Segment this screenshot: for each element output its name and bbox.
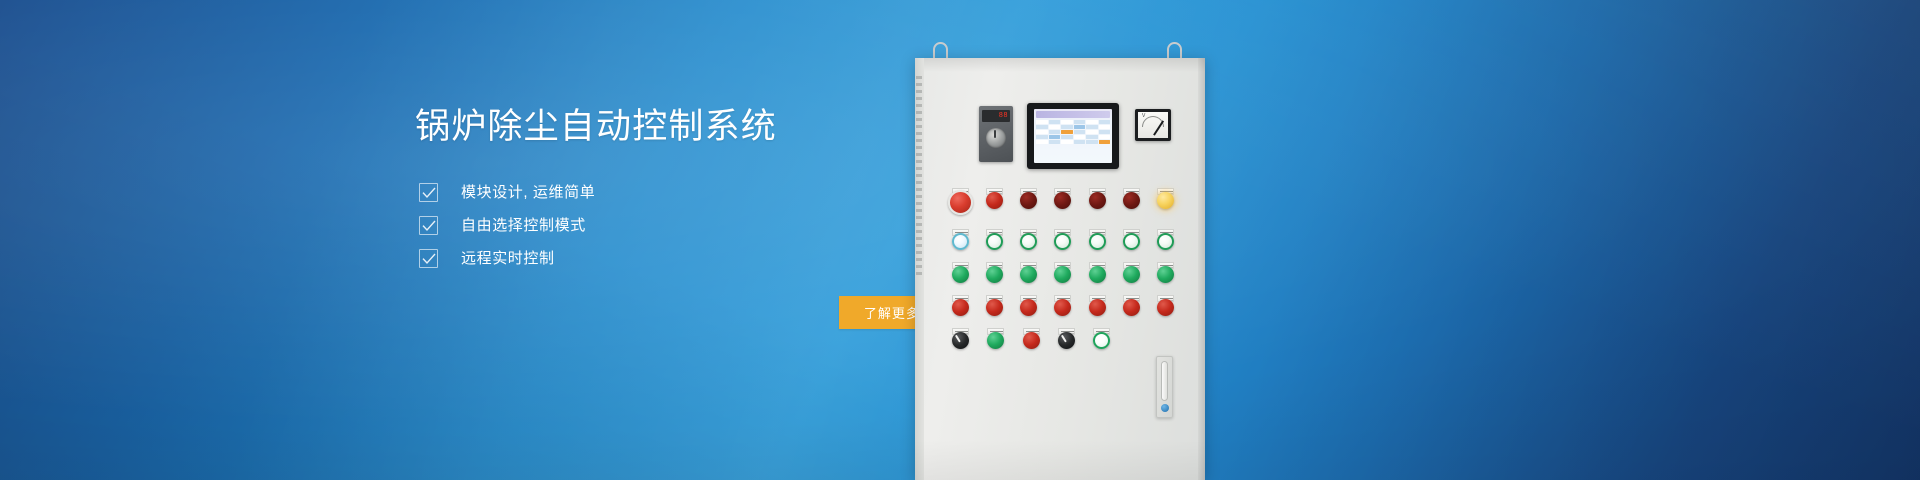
lamp-cell[interactable]	[949, 295, 972, 316]
motor-speed-controller: 88	[979, 106, 1013, 162]
lamp-cell[interactable]	[949, 328, 972, 349]
cabinet-bottom-shadow	[915, 440, 1205, 480]
black-selector-switch[interactable]	[1058, 332, 1075, 349]
lamp-cell[interactable]	[984, 328, 1007, 349]
lamp-cell[interactable]	[1086, 229, 1109, 250]
list-item: 自由选择控制模式	[419, 209, 839, 242]
lamp-cell[interactable]	[983, 262, 1006, 283]
dark-red-lamp[interactable]	[1020, 192, 1037, 209]
checkbox-checked-icon	[419, 249, 438, 268]
white-green-lamp[interactable]	[1123, 233, 1140, 250]
cabinet-body: 88	[915, 58, 1205, 480]
hero-banner: 锅炉除尘自动控制系统 模块设计, 运维简单 自由选择控制模式	[0, 0, 1920, 480]
door-handle-with-lock[interactable]	[1156, 356, 1173, 418]
handle-bar	[1161, 361, 1168, 401]
lamp-cell[interactable]	[949, 188, 972, 215]
white-green-lamp[interactable]	[1089, 233, 1106, 250]
green-lamp[interactable]	[986, 266, 1003, 283]
lamp-cell[interactable]	[1154, 262, 1177, 283]
lamp-cell[interactable]	[983, 295, 1006, 316]
voltmeter-face: V	[1138, 112, 1168, 138]
green-lamp[interactable]	[952, 266, 969, 283]
cabinet-top-shadow	[915, 58, 1205, 72]
controller-knob-icon	[986, 128, 1006, 148]
list-item-label: 远程实时控制	[461, 249, 555, 268]
hmi-screen-surface	[1034, 109, 1112, 163]
dark-red-lamp[interactable]	[1089, 192, 1106, 209]
list-item: 模块设计, 运维简单	[419, 176, 839, 209]
list-item-label: 模块设计, 运维简单	[461, 183, 595, 202]
lamp-cell[interactable]	[1090, 328, 1113, 349]
learn-more-label: 了解更多	[864, 303, 920, 322]
lamp-cell[interactable]	[1017, 295, 1040, 316]
white-green-lamp[interactable]	[986, 233, 1003, 250]
red-lamp[interactable]	[986, 299, 1003, 316]
lamp-cell[interactable]	[949, 229, 972, 250]
lamp-cell[interactable]	[1154, 188, 1177, 215]
cabinet-right-edge	[1198, 58, 1205, 480]
lamp-cell[interactable]	[1120, 229, 1143, 250]
emergency-stop-button[interactable]	[948, 190, 973, 215]
white-green-lamp[interactable]	[1157, 233, 1174, 250]
selector-switch-row	[949, 328, 1113, 349]
list-item-label: 自由选择控制模式	[461, 216, 586, 235]
instrument-row: 88	[937, 103, 1187, 171]
red-lamp[interactable]	[1054, 299, 1071, 316]
red-lamp[interactable]	[1157, 299, 1174, 316]
dark-red-lamp[interactable]	[1054, 192, 1071, 209]
lamp-cell[interactable]	[1154, 295, 1177, 316]
checkbox-checked-icon	[419, 183, 438, 202]
lamp-cell[interactable]	[1154, 229, 1177, 250]
green-lamp[interactable]	[1054, 266, 1071, 283]
lamp-cell[interactable]	[1120, 295, 1143, 316]
feature-list: 模块设计, 运维简单 自由选择控制模式 远程实时控制	[419, 176, 839, 275]
controller-digits: 88	[999, 112, 1008, 120]
green-indicator-row	[949, 262, 1177, 283]
lamp-cell[interactable]	[1020, 328, 1043, 349]
checkbox-checked-icon	[419, 216, 438, 235]
controller-readout: 88	[982, 110, 1010, 122]
lamp-cell[interactable]	[949, 262, 972, 283]
dark-red-lamp[interactable]	[1123, 192, 1140, 209]
lamp-cell[interactable]	[1051, 262, 1074, 283]
red-lamp[interactable]	[1123, 299, 1140, 316]
green-ring-lamp[interactable]	[1093, 332, 1110, 349]
green-lamp[interactable]	[1020, 266, 1037, 283]
cabinet-hinge-strip	[915, 58, 924, 480]
lamp-cell[interactable]	[1120, 188, 1143, 215]
lamp-cell[interactable]	[1086, 262, 1109, 283]
green-lamp[interactable]	[1123, 266, 1140, 283]
analog-voltmeter: V	[1135, 109, 1171, 141]
lamp-cell[interactable]	[1051, 295, 1074, 316]
white-indicator-row	[949, 229, 1177, 250]
lamp-cell[interactable]	[983, 229, 1006, 250]
control-cabinet-photo: 88	[915, 40, 1205, 480]
green-lamp[interactable]	[1089, 266, 1106, 283]
lock-icon[interactable]	[1161, 404, 1169, 412]
lamp-cell[interactable]	[1055, 328, 1078, 349]
red-lamp[interactable]	[952, 299, 969, 316]
red-lamp[interactable]	[1020, 299, 1037, 316]
white-green-lamp[interactable]	[1054, 233, 1071, 250]
lamp-cell[interactable]	[1120, 262, 1143, 283]
hero-content: 锅炉除尘自动控制系统 模块设计, 运维简单 自由选择控制模式	[415, 0, 885, 480]
lamp-cell[interactable]	[1051, 188, 1074, 215]
lamp-cell[interactable]	[1017, 229, 1040, 250]
lamp-cell[interactable]	[1051, 229, 1074, 250]
lamp-cell[interactable]	[1017, 188, 1040, 215]
lamp-cell[interactable]	[1017, 262, 1040, 283]
indicator-lamp-grid	[949, 188, 1177, 361]
black-selector-switch[interactable]	[952, 332, 969, 349]
green-lamp[interactable]	[1157, 266, 1174, 283]
red-button[interactable]	[986, 192, 1003, 209]
green-lamp[interactable]	[987, 332, 1004, 349]
amber-lamp[interactable]	[1157, 192, 1174, 209]
lamp-cell[interactable]	[983, 188, 1006, 215]
red-lamp[interactable]	[1023, 332, 1040, 349]
red-lamp[interactable]	[1089, 299, 1106, 316]
hmi-touch-screen	[1027, 103, 1119, 169]
lamp-cell[interactable]	[1086, 188, 1109, 215]
white-blue-lamp[interactable]	[952, 233, 969, 250]
emergency-and-alarm-row	[949, 188, 1177, 215]
red-indicator-row	[949, 295, 1177, 316]
lamp-cell[interactable]	[1086, 295, 1109, 316]
white-green-lamp[interactable]	[1020, 233, 1037, 250]
hmi-title-bar	[1036, 111, 1110, 118]
list-item: 远程实时控制	[419, 242, 839, 275]
hmi-data-grid	[1036, 120, 1110, 144]
page-title: 锅炉除尘自动控制系统	[415, 105, 777, 149]
hinge-teeth	[916, 76, 922, 276]
